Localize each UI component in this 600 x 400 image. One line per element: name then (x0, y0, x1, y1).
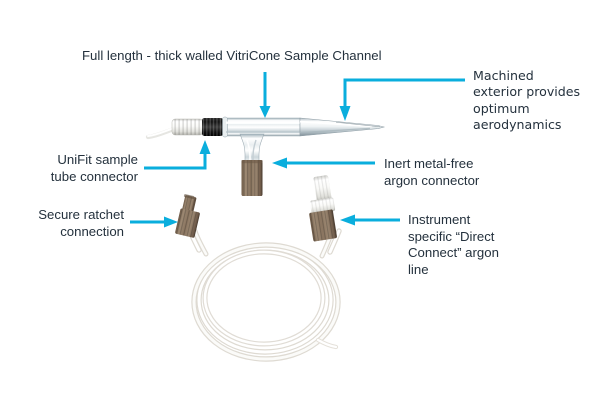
callout-ratchet: Secure ratchet connection (6, 207, 124, 240)
tapered-nebulizer-tip (300, 118, 384, 136)
callout-unifit: UniFit sample tube connector (10, 152, 138, 185)
arrow-unifit-line (144, 150, 205, 168)
arrow-machined-head (340, 106, 351, 121)
brown-ratchet-connector-left (175, 194, 200, 238)
capillary-sample-tube (148, 128, 174, 137)
arrow-unifit-head (200, 140, 211, 154)
arrow-direct-connect-head (340, 215, 355, 226)
glass-side-arm (240, 134, 264, 166)
vitricone-glass-body (223, 117, 301, 137)
callout-argon-connector: Inert metal-free argon connector (384, 156, 594, 189)
black-ribbed-ferrule (202, 118, 223, 136)
callout-sample-channel: Full length - thick walled VitriCone Sam… (82, 48, 462, 65)
callout-direct-connect: Instrument specific “Direct Connect” arg… (408, 212, 553, 278)
arrow-argon-connector-head (272, 158, 287, 169)
arrow-sample-channel-head (260, 106, 271, 118)
white-upper-nut (310, 175, 336, 215)
brown-ratchet-connector-right (309, 209, 337, 241)
unifit-white-ribbed-nut (172, 119, 203, 135)
coiled-argon-line (188, 226, 339, 359)
callout-machined-exterior: Machined exterior provides optimum aerod… (473, 68, 597, 134)
brown-argon-connector-nut (242, 160, 263, 196)
figure-root: Full length - thick walled VitriCone Sam… (0, 0, 600, 400)
arrow-ratchet-head (164, 217, 178, 228)
arrow-machined-line (345, 80, 465, 110)
